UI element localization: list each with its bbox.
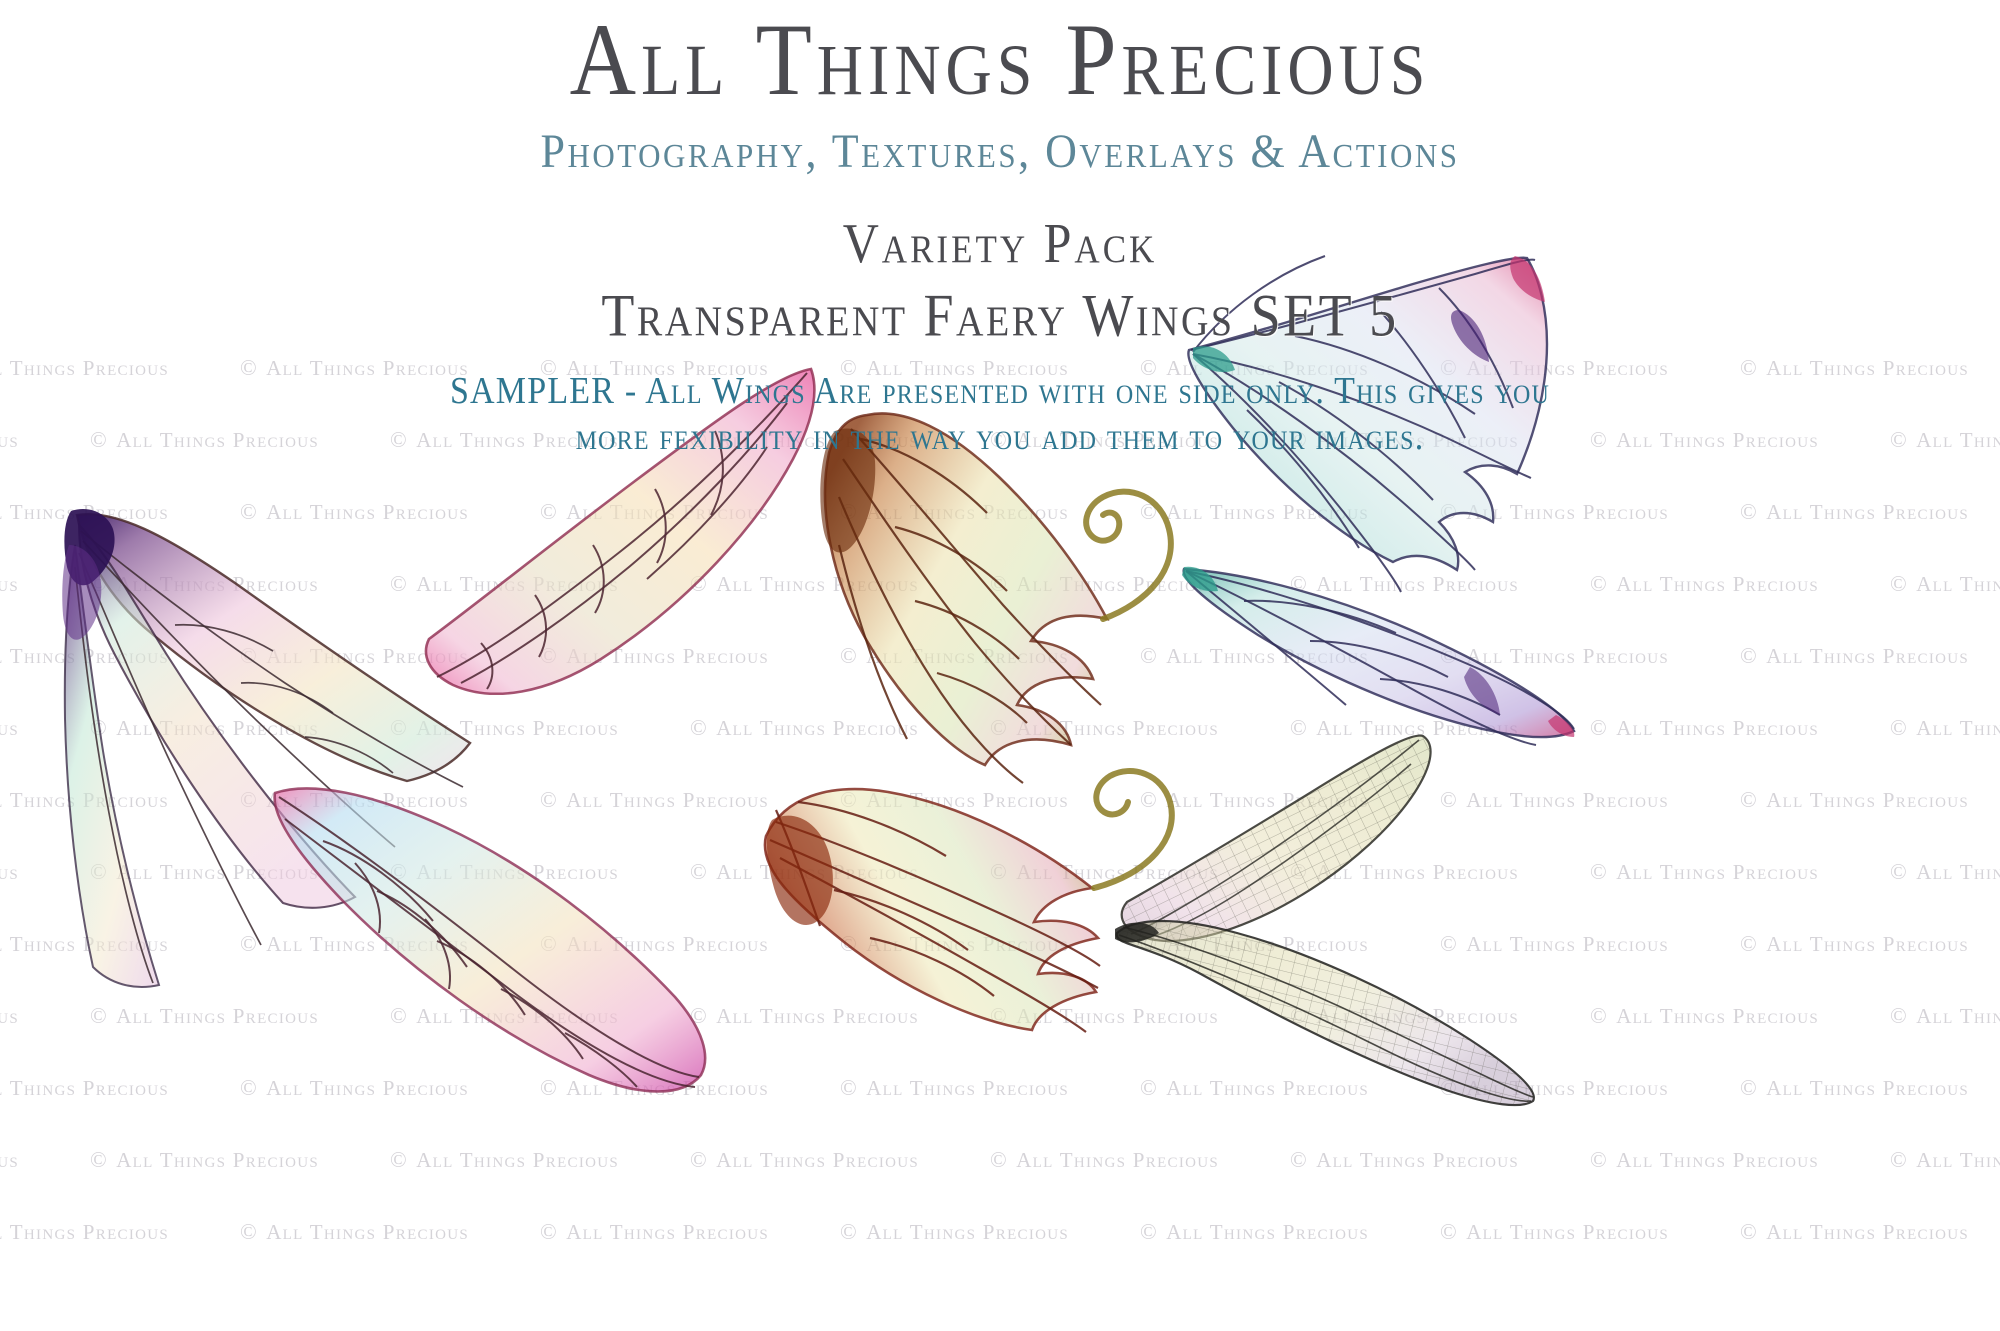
poster-header: All Things Precious Photography, Texture… bbox=[0, 0, 2000, 456]
poster-canvas: © All Things Precious© All Things Precio… bbox=[0, 0, 2000, 1331]
pack-label: Variety Pack bbox=[0, 215, 2000, 271]
brand-tagline: Photography, Textures, Overlays & Action… bbox=[0, 124, 2000, 179]
set-title: Transparent Faery Wings SET 5 bbox=[0, 285, 2000, 345]
wing-pink-cicada-lower[interactable] bbox=[265, 775, 715, 1105]
wing-dragonfly-lower[interactable] bbox=[1105, 915, 1555, 1110]
brand-title: All Things Precious bbox=[0, 8, 2000, 111]
sampler-note-line-2: more fexibility in the way you add them … bbox=[0, 413, 2000, 462]
sampler-note-line-1: SAMPLER - All Wings Are presented with o… bbox=[0, 367, 2000, 416]
